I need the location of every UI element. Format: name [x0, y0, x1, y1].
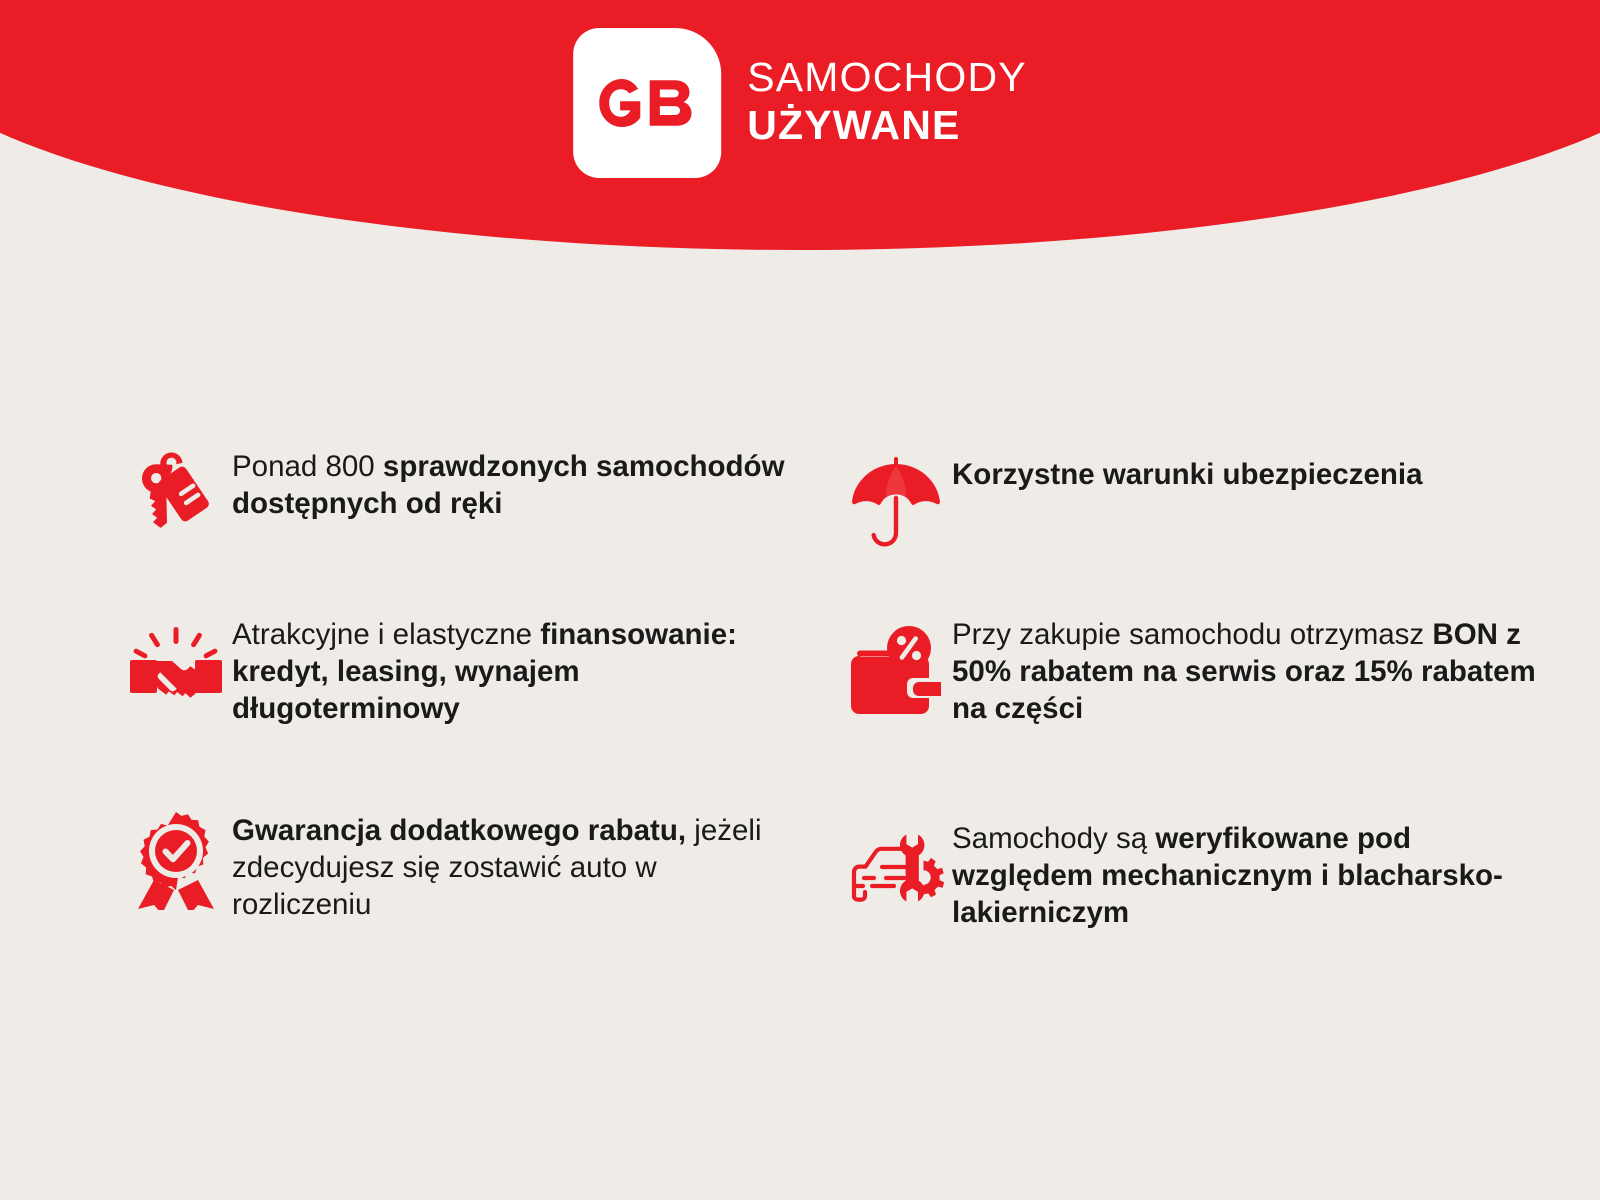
promo-banner: SAMOCHODY UŻYWANE	[0, 0, 1600, 1200]
feature-text-lead: Przy zakupie samochodu otrzymasz	[952, 618, 1432, 651]
award-rosette-icon	[120, 804, 232, 912]
brand-name-line2: UŻYWANE	[747, 105, 1027, 146]
gb-monogram-icon	[599, 79, 695, 127]
brand-name-line1: SAMOCHODY	[747, 57, 1027, 98]
feature-text: Atrakcyjne i elastyczne finansowanie: kr…	[232, 608, 792, 727]
feature-text-lead: Samochody są	[952, 822, 1155, 855]
feature-text-emphasis: Korzystne warunki ubezpieczenia	[952, 458, 1423, 491]
feature-text: Korzystne warunki ubezpieczenia	[952, 448, 1423, 493]
feature-text: Przy zakupie samochodu otrzymasz BON z 5…	[952, 608, 1552, 727]
feature-item: Przy zakupie samochodu otrzymasz BON z 5…	[840, 608, 1600, 812]
brand-name: SAMOCHODY UŻYWANE	[747, 57, 1027, 150]
feature-column-right: Korzystne warunki ubezpieczenia	[840, 440, 1600, 931]
gb-logo-tile	[573, 28, 721, 178]
feature-item: Atrakcyjne i elastyczne finansowanie: kr…	[120, 608, 840, 804]
feature-item: Samochody są weryfikowane pod względem m…	[840, 812, 1600, 931]
feature-text-lead: Atrakcyjne i elastyczne	[232, 618, 540, 651]
brand-lockup[interactable]: SAMOCHODY UŻYWANE	[573, 28, 1027, 178]
feature-item: Gwarancja dodatkowego rabatu, jeżeli zde…	[120, 804, 840, 923]
feature-column-left: Ponad 800 sprawdzonych samochodów dostęp…	[120, 440, 840, 931]
feature-text: Samochody są weryfikowane pod względem m…	[952, 812, 1552, 931]
feature-item: Korzystne warunki ubezpieczenia	[840, 448, 1600, 608]
feature-item: Ponad 800 sprawdzonych samochodów dostęp…	[120, 440, 840, 608]
feature-list: Ponad 800 sprawdzonych samochodów dostęp…	[0, 440, 1600, 931]
car-key-icon	[120, 440, 232, 546]
feature-text: Ponad 800 sprawdzonych samochodów dostęp…	[232, 440, 792, 522]
feature-text-emphasis: Gwarancja dodatkowego rabatu,	[232, 814, 686, 847]
wallet-percent-icon	[840, 608, 952, 724]
car-wrench-gear-icon	[840, 812, 952, 920]
feature-text: Gwarancja dodatkowego rabatu, jeżeli zde…	[232, 804, 792, 923]
feature-text-lead: Ponad 800	[232, 450, 383, 483]
handshake-icon	[120, 608, 232, 722]
umbrella-icon	[840, 448, 952, 552]
